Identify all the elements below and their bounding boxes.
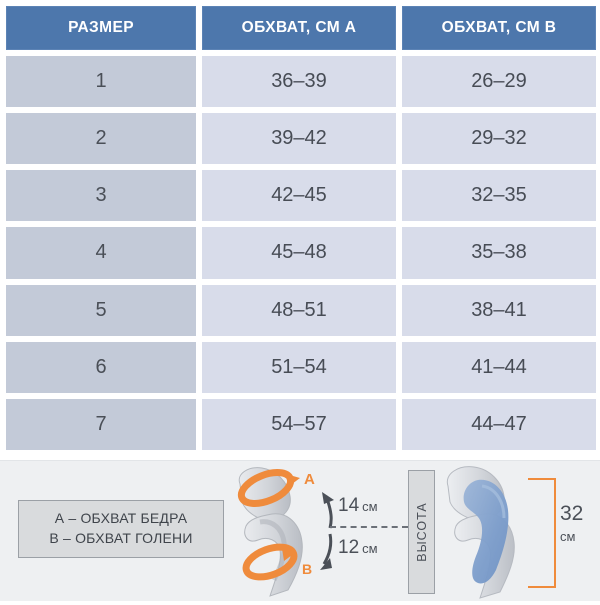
cell-girth-a: 39–42 — [202, 113, 396, 164]
cell-girth-b: 44–47 — [402, 399, 596, 450]
height-measure-unit: см — [560, 528, 583, 546]
legend-line-a: А – ОБХВАТ БЕДРА — [23, 508, 219, 528]
header-cell-size: РАЗМЕР — [6, 6, 196, 50]
cell-girth-a: 54–57 — [202, 399, 396, 450]
label-a: A — [304, 471, 315, 488]
cell-size: 5 — [6, 285, 196, 336]
cell-girth-b: 29–32 — [402, 113, 596, 164]
table-row: 7 54–57 44–47 — [6, 399, 596, 450]
cell-girth-b: 38–41 — [402, 285, 596, 336]
measure-bottom-unit: см — [362, 541, 377, 556]
size-table: РАЗМЕР ОБХВАТ, СМ A ОБХВАТ, СМ B 1 36–39… — [0, 0, 600, 456]
measure-arrow-up — [322, 492, 334, 504]
cell-girth-b: 26–29 — [402, 56, 596, 107]
legend-line-b: В – ОБХВАТ ГОЛЕНИ — [23, 528, 219, 548]
cell-size: 4 — [6, 227, 196, 278]
measure-top: 14см — [338, 492, 408, 520]
cell-size: 1 — [6, 56, 196, 107]
measure-top-unit: см — [362, 499, 377, 514]
height-measure-value: 32 — [560, 500, 583, 528]
height-label-text: ВЫСОТА — [415, 502, 429, 561]
measure-labels-ab: 14см 12см — [338, 492, 408, 561]
cell-size: 6 — [6, 342, 196, 393]
header-cell-girth-a: ОБХВАТ, СМ A — [202, 6, 396, 50]
cell-size: 3 — [6, 170, 196, 221]
measure-top-value: 14 — [338, 495, 359, 516]
table-row: 2 39–42 29–32 — [6, 113, 596, 164]
header-cell-girth-b: ОБХВАТ, СМ B — [402, 6, 596, 50]
table-header-row: РАЗМЕР ОБХВАТ, СМ A ОБХВАТ, СМ B — [6, 6, 596, 50]
legend-box: А – ОБХВАТ БЕДРА В – ОБХВАТ ГОЛЕНИ — [18, 500, 224, 558]
height-bracket — [528, 478, 556, 588]
measure-bottom-value: 12 — [338, 537, 359, 558]
size-chart-root: РАЗМЕР ОБХВАТ, СМ A ОБХВАТ, СМ B 1 36–39… — [0, 0, 600, 600]
knee-girth-diagram: A B — [230, 462, 340, 600]
height-label-box: ВЫСОТА — [408, 470, 435, 594]
measure-bottom: 12см — [338, 534, 408, 562]
cell-girth-a: 51–54 — [202, 342, 396, 393]
cell-size: 2 — [6, 113, 196, 164]
table-row: 5 48–51 38–41 — [6, 285, 596, 336]
label-b: B — [302, 561, 312, 577]
height-measure-label: 32 см — [560, 500, 583, 546]
cell-girth-b: 35–38 — [402, 227, 596, 278]
cell-girth-a: 42–45 — [202, 170, 396, 221]
knee-girth-illustration: A B — [230, 462, 340, 600]
cell-size: 7 — [6, 399, 196, 450]
table-row: 1 36–39 26–29 — [6, 56, 596, 107]
table-row: 4 45–48 35–38 — [6, 227, 596, 278]
cell-girth-a: 45–48 — [202, 227, 396, 278]
cell-girth-b: 32–35 — [402, 170, 596, 221]
table-body: 1 36–39 26–29 2 39–42 29–32 3 42–45 32–3… — [6, 56, 596, 450]
table-row: 6 51–54 41–44 — [6, 342, 596, 393]
cell-girth-a: 36–39 — [202, 56, 396, 107]
cell-girth-a: 48–51 — [202, 285, 396, 336]
table-row: 3 42–45 32–35 — [6, 170, 596, 221]
cell-girth-b: 41–44 — [402, 342, 596, 393]
